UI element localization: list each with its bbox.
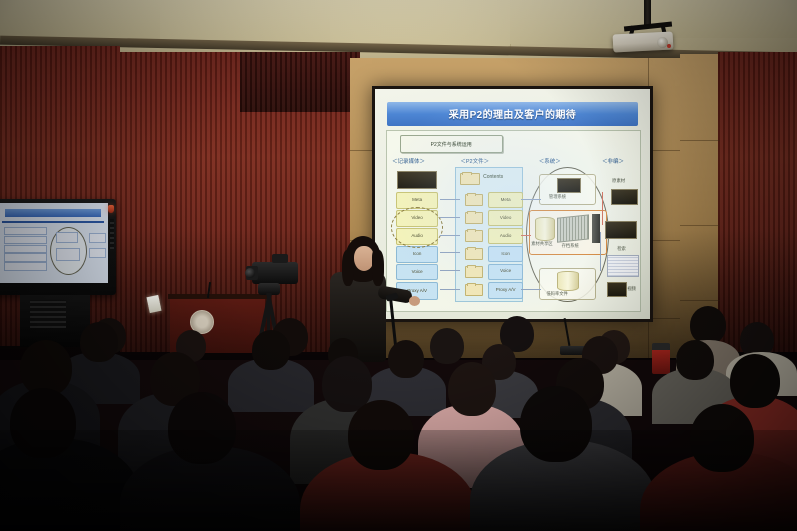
audience-head bbox=[730, 354, 780, 408]
wall-seam bbox=[680, 225, 720, 226]
video-camera-body bbox=[252, 262, 298, 284]
presenter-hand bbox=[409, 296, 420, 306]
wall-seam bbox=[680, 140, 720, 141]
monitor-power-led bbox=[108, 205, 114, 213]
monitor-side-node bbox=[89, 248, 105, 258]
monitor-content-row bbox=[4, 236, 48, 244]
video-camera-lens bbox=[245, 268, 255, 278]
monitor-content-row bbox=[4, 262, 48, 270]
foreground-shadow bbox=[0, 430, 797, 531]
audience-head bbox=[80, 322, 118, 362]
monitor-content-row bbox=[4, 253, 48, 261]
confidence-monitor-screen[interactable] bbox=[0, 203, 108, 283]
wall-red-upper-dark bbox=[240, 52, 360, 112]
screen-glow bbox=[375, 89, 650, 319]
screen-surface: 采用P2的理由及客户的期待 P2文件与系统运用 ＜记录媒体＞ ＜P2文件＞ ＜系… bbox=[375, 89, 650, 319]
thermos-cap bbox=[652, 343, 670, 350]
audience-head bbox=[388, 340, 424, 378]
confidence-monitor-frame bbox=[0, 199, 116, 295]
audience-head bbox=[690, 306, 726, 344]
monitor-stand-grille bbox=[30, 300, 66, 328]
audience-head bbox=[252, 330, 290, 370]
monitor-content-row bbox=[4, 245, 48, 253]
audience-head bbox=[676, 340, 714, 380]
monitor-side-node bbox=[89, 233, 105, 243]
monitor-toolbar bbox=[2, 221, 103, 223]
audience-head bbox=[430, 328, 464, 364]
monitor-content-row bbox=[4, 227, 48, 235]
projector-pole bbox=[644, 0, 651, 26]
monitor-diagram-node bbox=[56, 232, 78, 244]
projector-status-led bbox=[667, 44, 671, 48]
video-camera-viewfinder bbox=[272, 254, 288, 263]
monitor-diagram-node bbox=[56, 248, 80, 261]
presenter-hair-side bbox=[372, 250, 384, 286]
monitor-slide-title-bar bbox=[5, 209, 102, 218]
thermos-bottle bbox=[652, 348, 670, 374]
lecture-hall-scene: 采用P2的理由及客户的期待 P2文件与系统运用 ＜记录媒体＞ ＜P2文件＞ ＜系… bbox=[0, 0, 797, 531]
audience-head bbox=[448, 362, 496, 416]
projection-screen: 采用P2的理由及客户的期待 P2文件与系统运用 ＜记录媒体＞ ＜P2文件＞ ＜系… bbox=[372, 86, 653, 322]
presenter-hair-side bbox=[342, 250, 354, 286]
lectern-top-surface bbox=[168, 294, 268, 299]
monitor-control-buttons[interactable] bbox=[110, 219, 114, 249]
ceiling-panel bbox=[0, 0, 161, 40]
ceiling-panel bbox=[670, 0, 797, 38]
presenter-face bbox=[354, 246, 374, 271]
